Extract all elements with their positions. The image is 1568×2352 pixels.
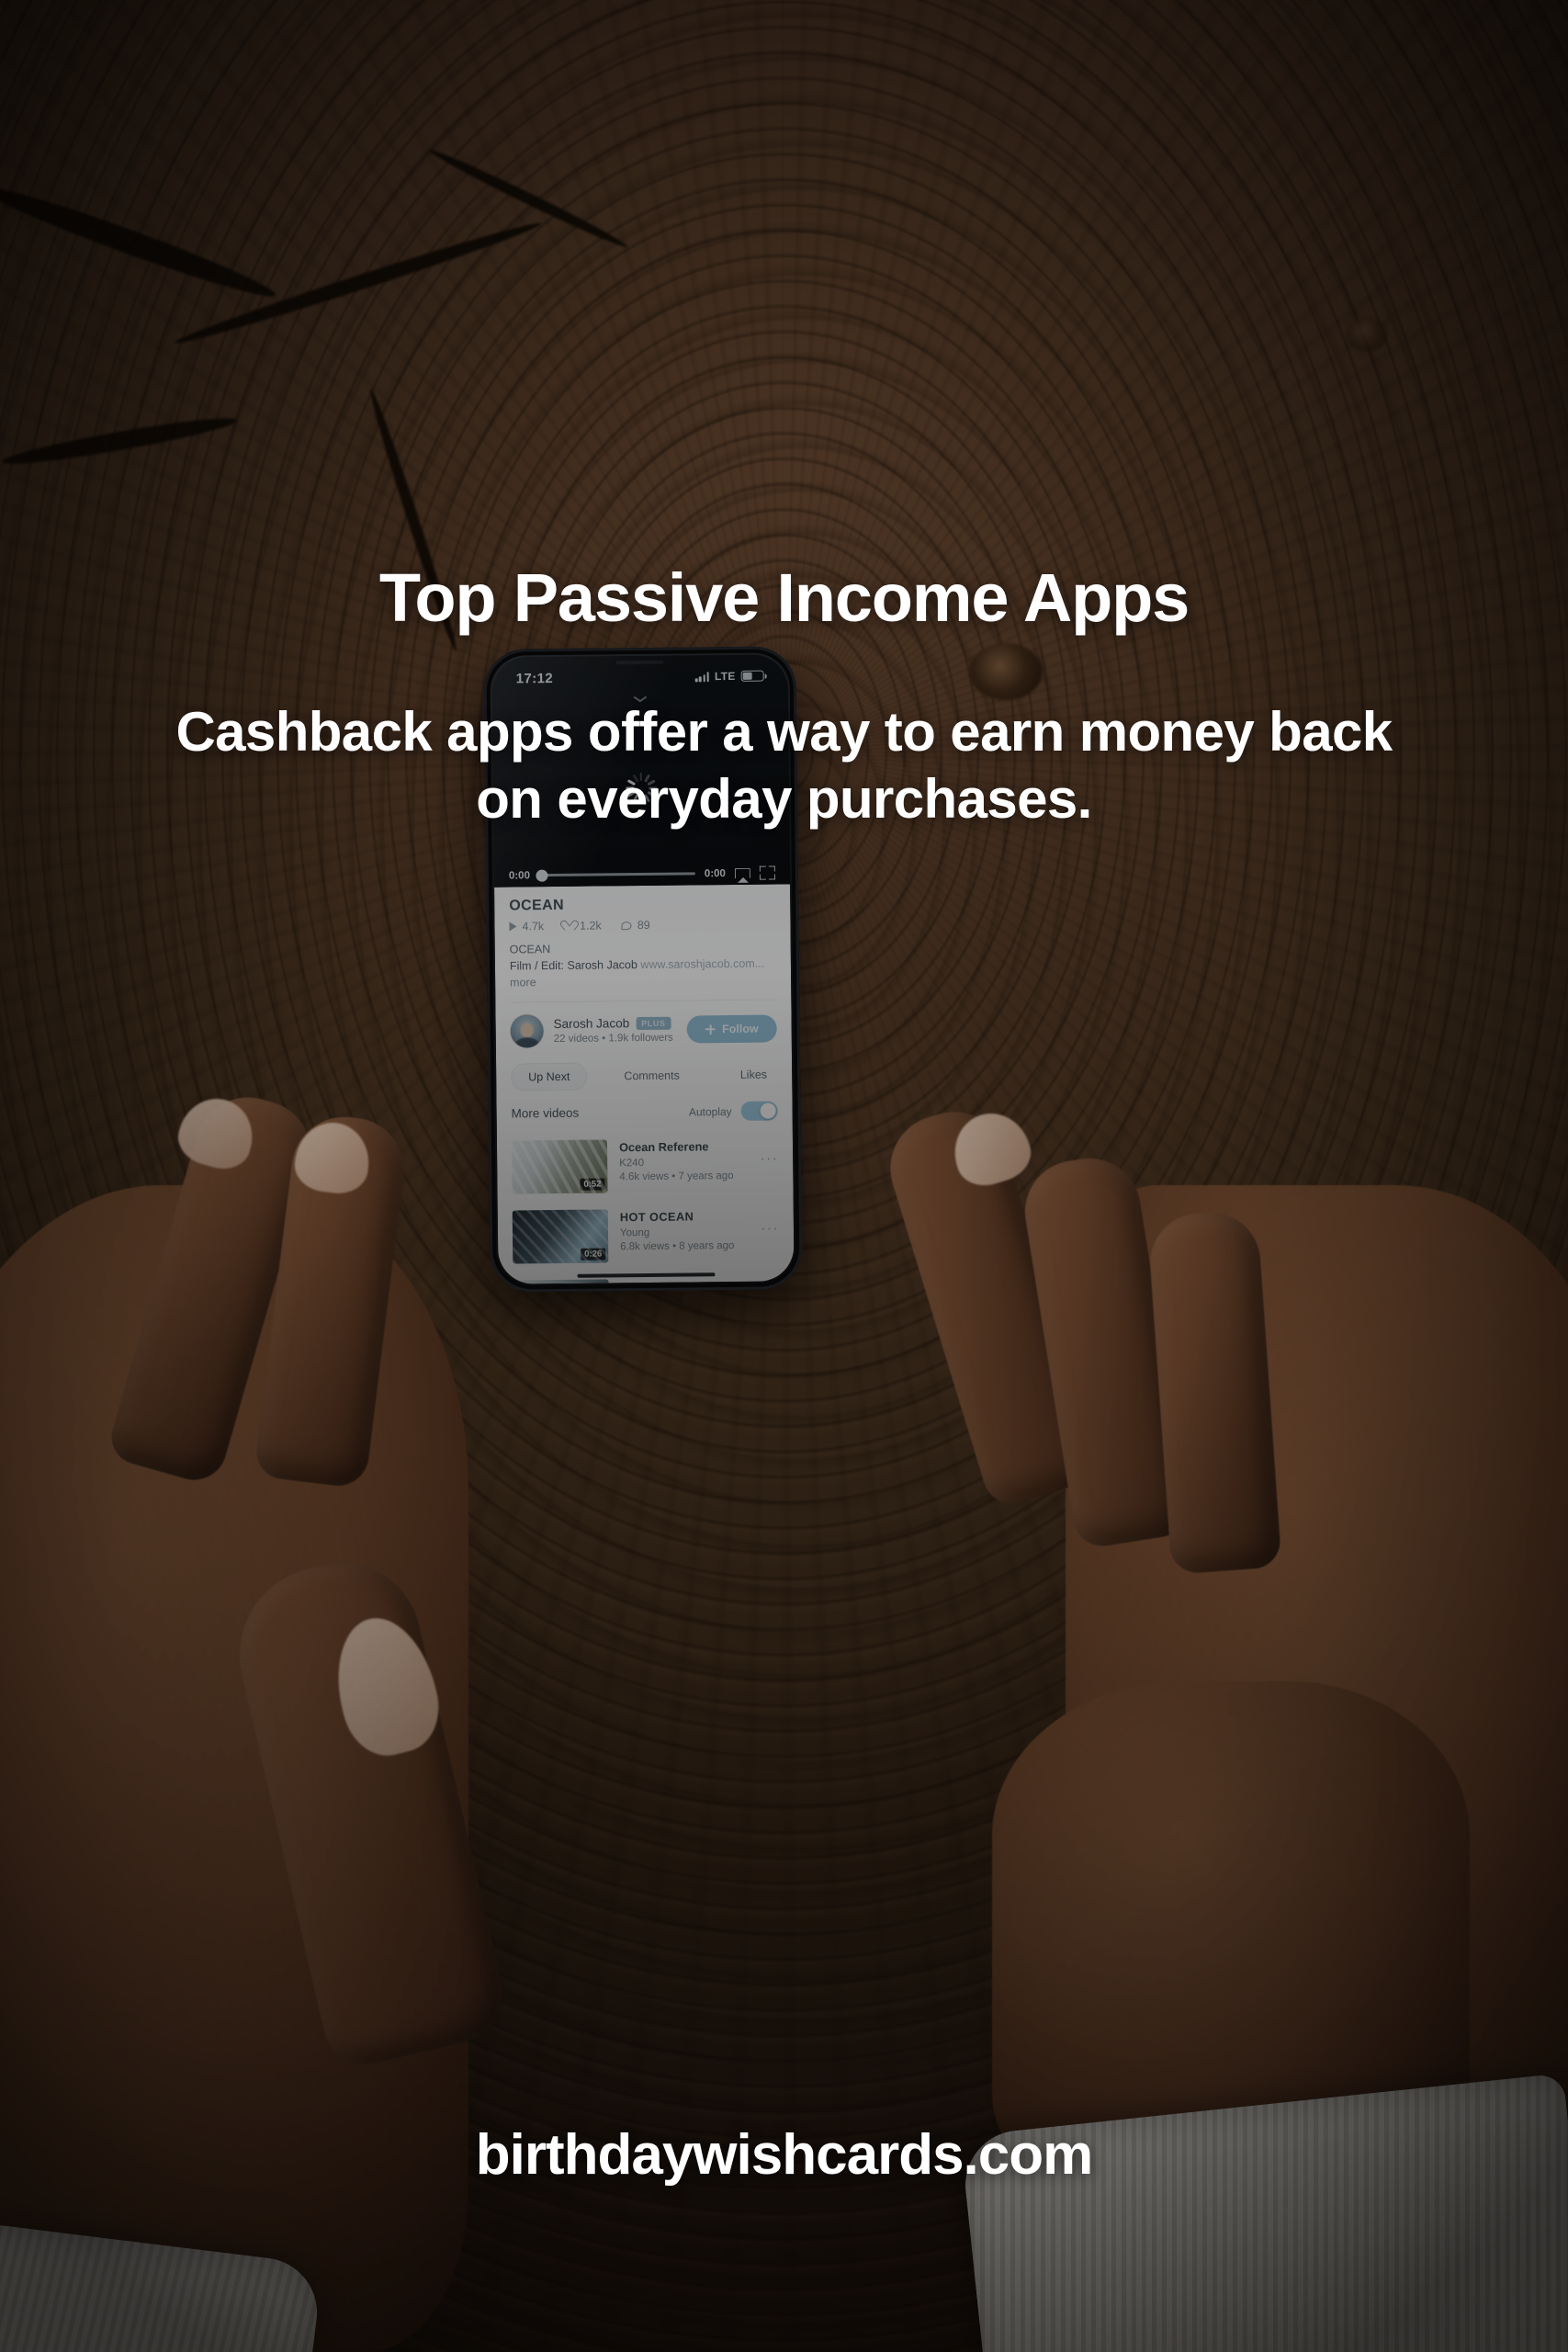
text-overlay: Top Passive Income Apps Cashback apps of… xyxy=(0,0,1568,2352)
website-url: birthdaywishcards.com xyxy=(0,2122,1568,2188)
poster-canvas: 17:12 LTE xyxy=(0,0,1568,2352)
page-title: Top Passive Income Apps xyxy=(0,564,1568,632)
subtitle: Cashback apps offer a way to earn money … xyxy=(138,698,1430,832)
